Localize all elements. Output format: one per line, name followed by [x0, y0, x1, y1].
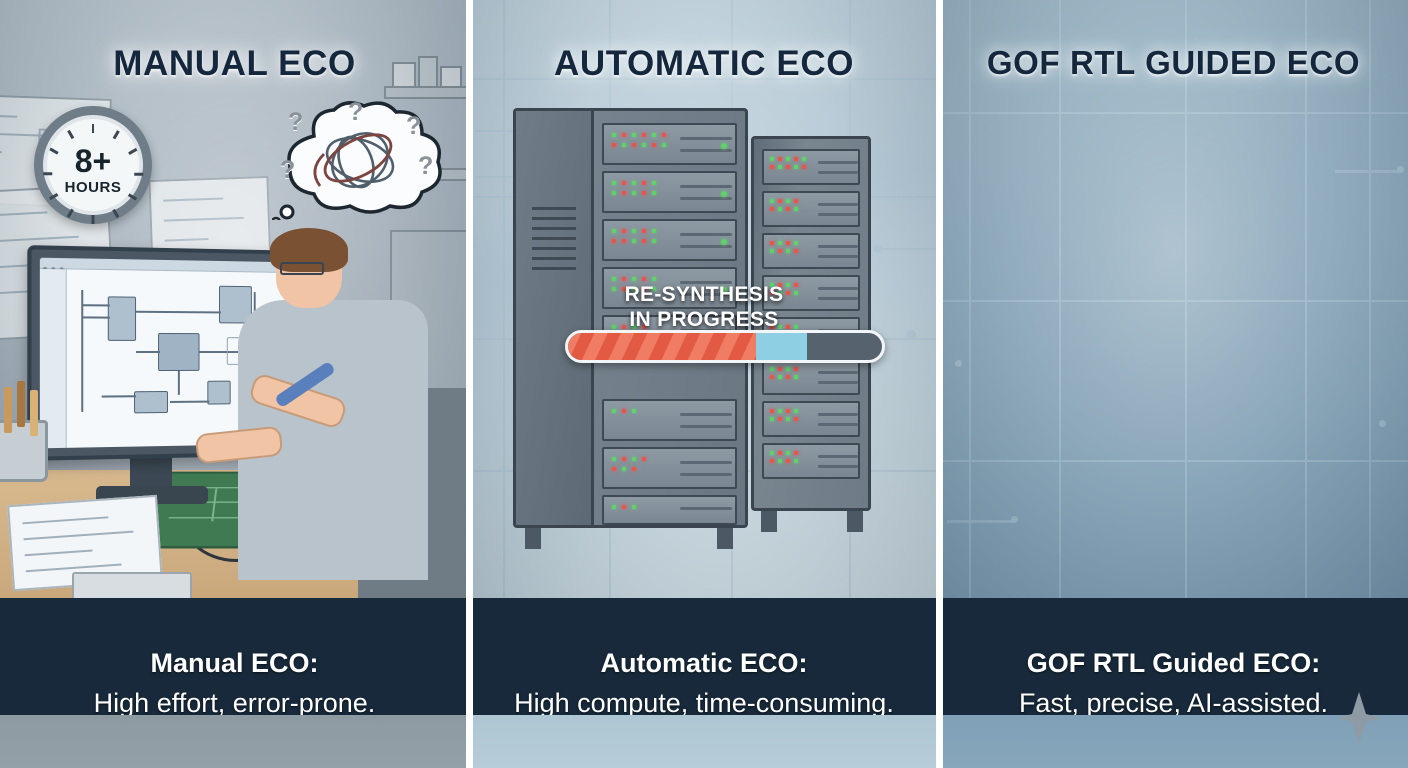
keyboard[interactable] [72, 572, 192, 598]
progress-status-text: RE-SYNTHESIS IN PROGRESS [469, 283, 939, 333]
question-mark-icon: ? [288, 108, 303, 137]
question-mark-icon: ? [418, 152, 433, 181]
caption-heading: GOF RTL Guided ECO: [1027, 648, 1321, 679]
panel-divider [936, 0, 943, 768]
sparkle-icon [1336, 692, 1382, 744]
panel-title: GOF RTL GUIDED ECO [939, 44, 1408, 82]
server-blade [762, 359, 860, 395]
server-blade [602, 219, 737, 261]
pencil [17, 381, 25, 427]
question-mark-icon: ? [348, 98, 363, 127]
caption-subtext: Fast, precise, AI-assisted. [1019, 688, 1328, 719]
progress-bar [565, 330, 885, 363]
server-blade [602, 123, 737, 165]
server-blade [602, 447, 737, 489]
caption-heading: Manual ECO: [150, 648, 318, 679]
server-blade [762, 443, 860, 479]
gof-eco-scene: AI codip void app() { ( r0 = 1'b1; [939, 0, 1408, 598]
pencil [4, 387, 12, 433]
progress-line-1: RE-SYNTHESIS [469, 283, 939, 308]
automatic-eco-scene: RE-SYNTHESIS IN PROGRESS 2 DAYS AUTOMATI… [469, 0, 939, 598]
server-blade [602, 495, 737, 525]
progress-bar-secondary [756, 333, 806, 360]
panel-manual-eco: 8+ HOURS [0, 0, 469, 768]
eco-comparison-infographic: 8+ HOURS [0, 0, 1408, 768]
pencil [30, 390, 38, 436]
bottom-strip [469, 715, 939, 768]
clock-face: 8+ HOURS [47, 119, 139, 211]
caption-heading: Automatic ECO: [600, 648, 807, 679]
thought-bubble-icon: ? ? ? ? ? [272, 100, 452, 220]
panel-title: AUTOMATIC ECO [469, 44, 939, 84]
server-blade [762, 149, 860, 185]
clock-hours-value: 8+ [47, 143, 139, 180]
server-blade [602, 171, 737, 213]
manual-eco-scene: 8+ HOURS [0, 0, 469, 598]
server-blade [762, 233, 860, 269]
bottom-strip [0, 715, 469, 768]
glasses-icon [280, 262, 324, 275]
circuit-background [939, 0, 1408, 598]
caption-subtext: High compute, time-consuming. [514, 688, 894, 719]
panel-title: MANUAL ECO [0, 44, 469, 84]
panel-automatic-eco: RE-SYNTHESIS IN PROGRESS 2 DAYS AUTOMATI… [469, 0, 939, 768]
pencil-cup [0, 420, 48, 482]
wall-clock-icon: 8+ HOURS [34, 106, 152, 224]
question-mark-icon: ? [406, 112, 421, 141]
progress-line-2: IN PROGRESS [469, 308, 939, 333]
server-blade [602, 399, 737, 441]
progress-bar-fill [568, 333, 756, 360]
panel-gof-rtl-guided-eco: AI codip void app() { ( r0 = 1'b1; [939, 0, 1408, 768]
clock-hours-unit: HOURS [47, 179, 139, 196]
caption-subtext: High effort, error-prone. [94, 688, 376, 719]
question-mark-icon: ? [280, 156, 295, 185]
server-blade [762, 401, 860, 437]
panel-divider [466, 0, 473, 768]
server-blade [762, 191, 860, 227]
